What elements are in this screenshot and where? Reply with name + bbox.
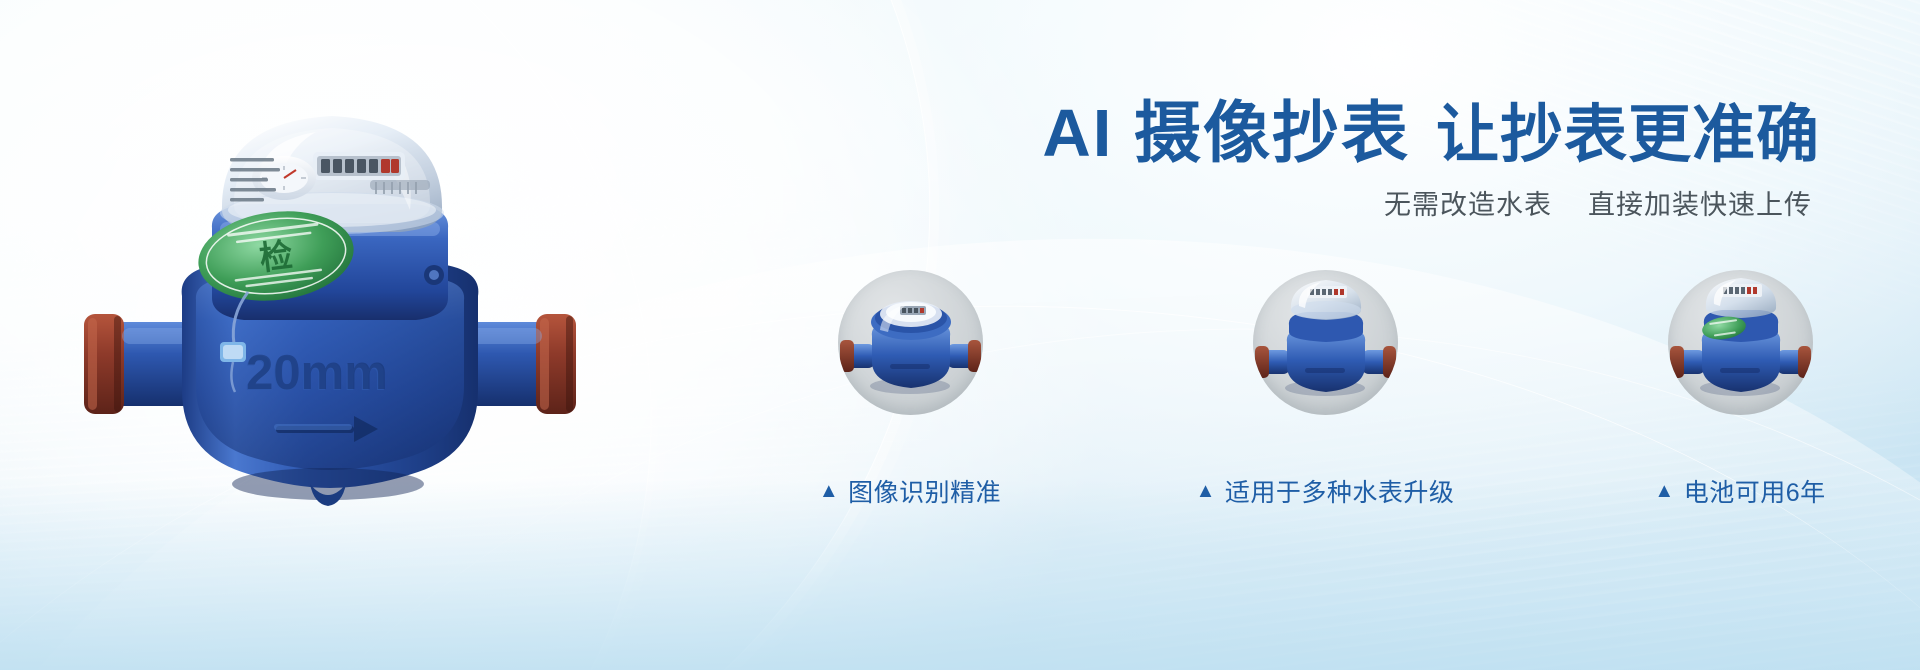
feature-item-2[interactable]: ▲ 适用于多种水表升级 <box>1175 270 1475 509</box>
triangle-marker-icon: ▲ <box>1196 481 1216 501</box>
svg-text:20mm: 20mm <box>246 346 388 400</box>
water-meter-thumb-icon-1 <box>838 270 983 415</box>
hero-product-image: 20mm 20mm N&F <box>70 60 590 530</box>
subtitle-left: 无需改造水表 <box>1384 190 1552 220</box>
feature-thumb-1 <box>838 270 983 415</box>
triangle-marker-icon: ▲ <box>819 481 839 501</box>
feature-thumb-2 <box>1253 270 1398 415</box>
feature-label-2: 适用于多种水表升级 <box>1225 473 1455 509</box>
feature-label-3: 电池可用6年 <box>1684 473 1826 509</box>
feature-thumb-3 <box>1668 270 1813 415</box>
feature-list: ▲ 图像识别精准 <box>760 270 1890 500</box>
copy-block: AI 摄像抄表让抄表更准确 无需改造水表直接加装快速上传 <box>560 96 1860 223</box>
triangle-marker-icon: ▲ <box>1654 481 1674 501</box>
headline-main: AI 摄像抄表 <box>1042 96 1410 171</box>
water-meter-thumb-icon-3 <box>1668 270 1813 415</box>
water-meter-illustration: 20mm 20mm N&F <box>70 60 590 530</box>
feature-caption-2: ▲ 适用于多种水表升级 <box>1196 473 1455 509</box>
feature-item-3[interactable]: ▲ 电池可用6年 <box>1590 270 1890 509</box>
subtitle-right: 直接加装快速上传 <box>1588 190 1812 220</box>
feature-label-1: 图像识别精准 <box>848 473 1001 509</box>
promo-banner: 20mm 20mm N&F <box>0 0 1920 670</box>
feature-item-1[interactable]: ▲ 图像识别精准 <box>760 270 1060 509</box>
feature-caption-3: ▲ 电池可用6年 <box>1654 473 1825 509</box>
water-meter-thumb-icon-2 <box>1253 270 1398 415</box>
feature-caption-1: ▲ 图像识别精准 <box>819 473 1001 509</box>
seal-character: 检 <box>257 236 294 277</box>
page-title: AI 摄像抄表让抄表更准确 <box>560 96 1860 171</box>
headline-sub: 让抄表更准确 <box>1436 100 1820 170</box>
right-pipe-group <box>462 314 576 414</box>
subtitle: 无需改造水表直接加装快速上传 <box>560 188 1860 223</box>
